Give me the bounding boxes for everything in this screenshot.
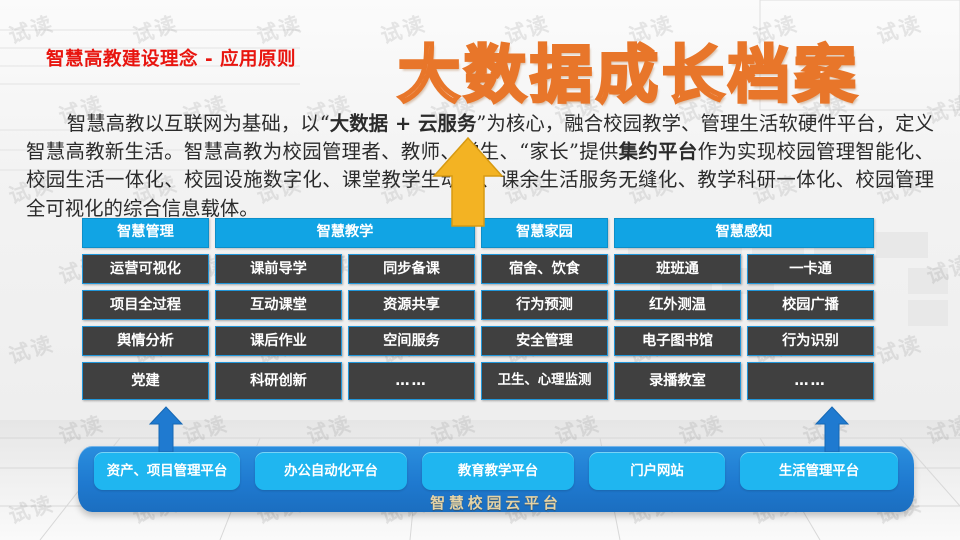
grid-cell[interactable]: 班班通 — [614, 254, 741, 284]
grid-cell[interactable]: 同步备课 — [348, 254, 475, 284]
grid-cell[interactable]: 运营可视化 — [82, 254, 209, 284]
platform-pill-group: 资产、项目管理平台 办公自动化平台 教育教学平台 门户网站 生活管理平台 — [78, 452, 914, 490]
cloud-platform-bar: 资产、项目管理平台 办公自动化平台 教育教学平台 门户网站 生活管理平台 智慧校… — [78, 446, 914, 512]
small-up-arrow-icon — [148, 406, 184, 452]
grid-cell[interactable]: 课后作业 — [215, 326, 342, 356]
grid-cell[interactable]: 红外测温 — [614, 290, 741, 320]
grid-row: 舆情分析 课后作业 空间服务 安全管理 电子图书馆 行为识别 — [82, 326, 910, 356]
grid-cell[interactable]: 行为识别 — [747, 326, 874, 356]
grid-cell[interactable]: 课前导学 — [215, 254, 342, 284]
grid-cell[interactable]: 卫生、心理监测 — [481, 362, 608, 400]
paragraph-emphasis: 大数据 + 云服务 — [330, 112, 477, 135]
decorative-headline: 大数据成长档案 — [398, 24, 860, 114]
grid-row: 党建 科研创新 …… 卫生、心理监测 录播教室 …… — [82, 362, 910, 400]
platform-pill[interactable]: 资产、项目管理平台 — [94, 452, 240, 490]
paragraph-emphasis: 集约平台 — [619, 140, 698, 163]
platform-pill[interactable]: 生活管理平台 — [740, 452, 898, 490]
grid-cell[interactable]: 录播教室 — [614, 362, 741, 400]
grid-cell[interactable]: …… — [747, 362, 874, 400]
grid-header-cell[interactable]: 智慧管理 — [82, 218, 209, 248]
grid-cell[interactable]: 安全管理 — [481, 326, 608, 356]
grid-cell[interactable]: …… — [348, 362, 475, 400]
grid-cell[interactable]: 校园广播 — [747, 290, 874, 320]
grid-row: 项目全过程 互动课堂 资源共享 行为预测 红外测温 校园广播 — [82, 290, 910, 320]
paragraph-text: 智慧高教以互联网为基础，以“ — [67, 112, 330, 135]
grid-cell[interactable]: 互动课堂 — [215, 290, 342, 320]
grid-cell[interactable]: 宿舍、饮食 — [481, 254, 608, 284]
page-title: 智慧高教建设理念 - 应用原则 — [46, 45, 296, 71]
platform-label: 智慧校园云平台 — [78, 492, 914, 513]
grid-cell[interactable]: 党建 — [82, 362, 209, 400]
grid-cell[interactable]: 电子图书馆 — [614, 326, 741, 356]
grid-header-cell[interactable]: 智慧感知 — [614, 218, 874, 248]
grid-cell[interactable]: 行为预测 — [481, 290, 608, 320]
big-up-arrow-icon — [432, 136, 504, 228]
grid-row: 运营可视化 课前导学 同步备课 宿舍、饮食 班班通 一卡通 — [82, 254, 910, 284]
grid-cell[interactable]: 空间服务 — [348, 326, 475, 356]
grid-cell[interactable]: 项目全过程 — [82, 290, 209, 320]
grid-cell[interactable]: 舆情分析 — [82, 326, 209, 356]
platform-pill[interactable]: 门户网站 — [589, 452, 725, 490]
platform-pill[interactable]: 教育教学平台 — [422, 452, 574, 490]
platform-pill[interactable]: 办公自动化平台 — [255, 452, 407, 490]
grid-cell[interactable]: 科研创新 — [215, 362, 342, 400]
slide-header: 智慧高教建设理念 - 应用原则 大数据成长档案 — [0, 0, 960, 105]
grid-cell[interactable]: 资源共享 — [348, 290, 475, 320]
small-up-arrow-icon — [814, 406, 850, 452]
capability-grid: 智慧管理 智慧教学 智慧家园 智慧感知 运营可视化 课前导学 同步备课 宿舍、饮… — [82, 218, 910, 406]
grid-cell[interactable]: 一卡通 — [747, 254, 874, 284]
